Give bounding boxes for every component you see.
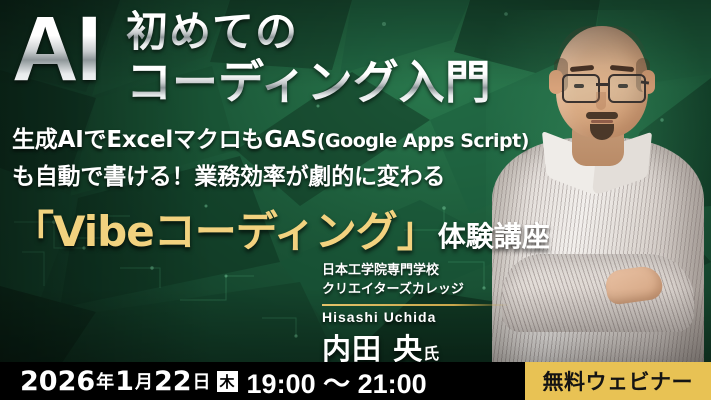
speaker-divider — [322, 304, 510, 306]
event-year: 2026 — [20, 366, 95, 397]
event-year-unit: 年 — [96, 368, 114, 394]
subcopy-line-1-paren: (Google Apps Script) — [317, 130, 529, 152]
event-month: 1 — [115, 366, 134, 397]
headline-line-2: コーディング入門 — [126, 58, 491, 106]
webinar-poster: AI 初めての コーディング入門 生成AIでExcelマクロもGAS(Googl… — [0, 0, 711, 400]
subcopy-line-1: 生成AIでExcelマクロもGAS(Google Apps Script) — [12, 120, 529, 154]
speaker-roman-name: Hisashi Uchida — [322, 309, 522, 325]
subcopy-line-1-main: 生成AIでExcelマクロもGAS — [12, 127, 317, 153]
event-day-unit: 日 — [193, 368, 211, 394]
headline-line-1: 初めての — [126, 10, 298, 54]
footer-bar: 2026 年 1 月 22 日 木 19:00 〜 21:00 無料ウェビナー — [0, 362, 711, 400]
speaker-school-line-1: 日本工学院専門学校 — [322, 262, 522, 281]
event-month-unit: 月 — [135, 368, 153, 394]
subcopy-line-2: も自動で書ける！業務効率が劇的に変わる — [12, 157, 445, 191]
event-time-range: 19:00 〜 21:00 — [247, 362, 427, 400]
event-date: 2026 年 1 月 22 日 木 — [20, 366, 245, 397]
course-title-gold: 「Vibeコーディング」 — [12, 207, 438, 256]
event-day-of-week-badge: 木 — [217, 371, 238, 392]
speaker-honorific: 氏 — [423, 344, 439, 363]
course-title: 「Vibeコーディング」体験講座 — [12, 198, 550, 259]
speaker-school-line-2: クリエイターズカレッジ — [322, 281, 522, 300]
free-webinar-badge: 無料ウェビナー — [525, 362, 711, 400]
ai-logo: AI — [12, 6, 100, 93]
course-title-tail: 体験講座 — [438, 220, 550, 253]
event-day: 22 — [154, 366, 192, 397]
speaker-block: 日本工学院専門学校 クリエイターズカレッジ Hisashi Uchida 内田 … — [322, 262, 522, 368]
